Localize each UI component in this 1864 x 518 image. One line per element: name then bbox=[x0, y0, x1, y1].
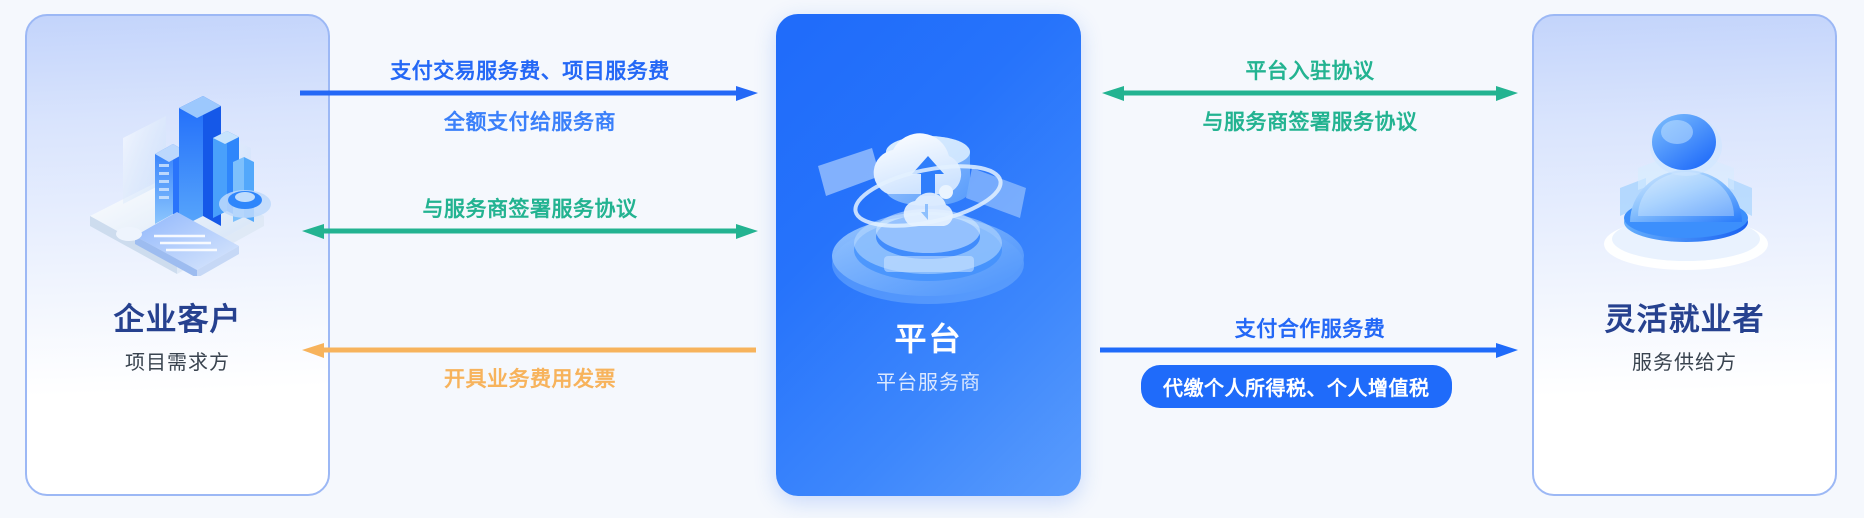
status-badge-withholding-tax: 代缴个人所得税、个人增值税 bbox=[1141, 365, 1452, 408]
flow-label-pay-cooperation-fee: 支付合作服务费 bbox=[1100, 313, 1520, 343]
card-subtitle: 项目需求方 bbox=[27, 346, 328, 375]
office-buildings-chart-3d-illustration-icon bbox=[27, 76, 328, 276]
platform-subtitle: 平台服务商 bbox=[776, 366, 1081, 395]
card-flexible-worker[interactable]: 灵活就业者 服务供给方 bbox=[1532, 14, 1837, 496]
arrow-left-to-platform-pay bbox=[300, 86, 760, 102]
card-title: 企业客户 bbox=[27, 294, 328, 339]
flow-label-pay-full-to-provider: 全额支付给服务商 bbox=[300, 106, 760, 136]
card-platform[interactable]: 平台 平台服务商 bbox=[776, 14, 1081, 496]
flow-diagram-canvas: 企业客户 项目需求方 bbox=[0, 0, 1864, 518]
person-avatar-3d-illustration-icon bbox=[1534, 76, 1835, 276]
arrow-platform-to-right-pay bbox=[1100, 343, 1520, 359]
arrow-platform-to-left-invoice bbox=[300, 343, 760, 359]
card-enterprise-client[interactable]: 企业客户 项目需求方 bbox=[25, 14, 330, 496]
card-title: 灵活就业者 bbox=[1534, 294, 1835, 339]
flow-label-sign-agreement-left: 与服务商签署服务协议 bbox=[300, 193, 760, 223]
flow-label-platform-entry-agreement: 平台入驻协议 bbox=[1100, 55, 1520, 85]
flow-label-sign-agreement-right: 与服务商签署服务协议 bbox=[1100, 106, 1520, 136]
arrow-platform-right-agreement bbox=[1100, 86, 1520, 102]
platform-title: 平台 bbox=[776, 314, 1081, 360]
cloud-platform-3d-illustration-icon bbox=[776, 106, 1081, 316]
arrow-left-platform-agreement bbox=[300, 224, 760, 240]
card-subtitle: 服务供给方 bbox=[1534, 346, 1835, 375]
flow-label-pay-service-fee: 支付交易服务费、项目服务费 bbox=[300, 55, 760, 85]
flow-label-issue-invoice: 开具业务费用发票 bbox=[300, 363, 760, 393]
